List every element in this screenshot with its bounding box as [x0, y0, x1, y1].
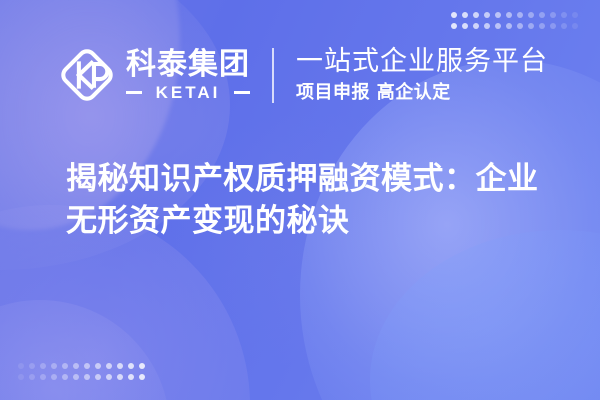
decorative-dot — [95, 363, 101, 369]
dot-row — [451, 23, 578, 29]
background-blob-right-lower — [370, 230, 600, 400]
decorative-dot — [451, 12, 457, 18]
background-blob-bottom-left-inner — [0, 300, 170, 400]
decorative-dot — [506, 12, 512, 18]
decorative-dot — [462, 12, 468, 18]
logo-wordmark: 科泰集团 KETAI — [126, 49, 250, 101]
decorative-dot — [451, 23, 457, 29]
decorative-dot — [528, 12, 534, 18]
decorative-dot — [18, 363, 24, 369]
decorative-dot — [462, 23, 468, 29]
dot-grid-bottom-left — [18, 363, 145, 380]
logo-english-row: KETAI — [126, 84, 250, 101]
decorative-dot — [29, 363, 35, 369]
slogan-primary: 一站式企业服务平台 — [296, 47, 548, 77]
decorative-dot — [73, 374, 79, 380]
dot-row — [18, 374, 145, 380]
decorative-dot — [117, 374, 123, 380]
headline-line-2: 无形资产变现的秘诀 — [66, 200, 566, 242]
banner-header: 科泰集团 KETAI 一站式企业服务平台 项目申报 高企认定 — [58, 42, 548, 108]
decorative-dot — [495, 23, 501, 29]
logo-english-name: KETAI — [147, 84, 229, 101]
decorative-dot — [517, 12, 523, 18]
decorative-dot — [40, 374, 46, 380]
decorative-dot — [550, 23, 556, 29]
decorative-dot — [40, 363, 46, 369]
decorative-dot — [473, 12, 479, 18]
promo-banner: 科泰集团 KETAI 一站式企业服务平台 项目申报 高企认定 揭秘知识产权质押融… — [0, 0, 600, 400]
logo-rule-left — [126, 91, 142, 94]
decorative-dot — [473, 23, 479, 29]
dot-row — [451, 12, 578, 18]
slogan-secondary: 项目申报 高企认定 — [296, 82, 548, 104]
decorative-dot — [484, 12, 490, 18]
decorative-dot — [139, 374, 145, 380]
decorative-dot — [572, 12, 578, 18]
decorative-dot — [128, 374, 134, 380]
decorative-dot — [84, 374, 90, 380]
dot-grid-top-right — [451, 12, 578, 29]
decorative-dot — [506, 23, 512, 29]
ketai-diamond-logo-icon — [58, 46, 116, 104]
decorative-dot — [517, 23, 523, 29]
headline-line-1: 揭秘知识产权质押融资模式：企业 — [66, 158, 566, 200]
decorative-dot — [550, 12, 556, 18]
decorative-dot — [62, 363, 68, 369]
decorative-dot — [139, 363, 145, 369]
decorative-dot — [29, 374, 35, 380]
slogan-block: 一站式企业服务平台 项目申报 高企认定 — [296, 47, 548, 104]
decorative-dot — [18, 374, 24, 380]
logo-rule-right — [234, 91, 250, 94]
decorative-dot — [106, 363, 112, 369]
brand-logo[interactable]: 科泰集团 KETAI — [58, 44, 250, 106]
decorative-dot — [572, 23, 578, 29]
article-headline: 揭秘知识产权质押融资模式：企业 无形资产变现的秘诀 — [66, 158, 566, 242]
decorative-dot — [528, 23, 534, 29]
decorative-dot — [95, 374, 101, 380]
decorative-dot — [539, 12, 545, 18]
decorative-dot — [539, 23, 545, 29]
logo-chinese-name: 科泰集团 — [126, 49, 250, 81]
decorative-dot — [62, 374, 68, 380]
decorative-dot — [106, 374, 112, 380]
dot-row — [18, 363, 145, 369]
decorative-dot — [117, 363, 123, 369]
decorative-dot — [561, 12, 567, 18]
decorative-dot — [484, 23, 490, 29]
decorative-dot — [495, 12, 501, 18]
header-vertical-divider — [272, 48, 274, 103]
decorative-dot — [51, 363, 57, 369]
decorative-dot — [51, 374, 57, 380]
decorative-dot — [561, 23, 567, 29]
decorative-dot — [73, 363, 79, 369]
decorative-dot — [128, 363, 134, 369]
decorative-dot — [84, 363, 90, 369]
